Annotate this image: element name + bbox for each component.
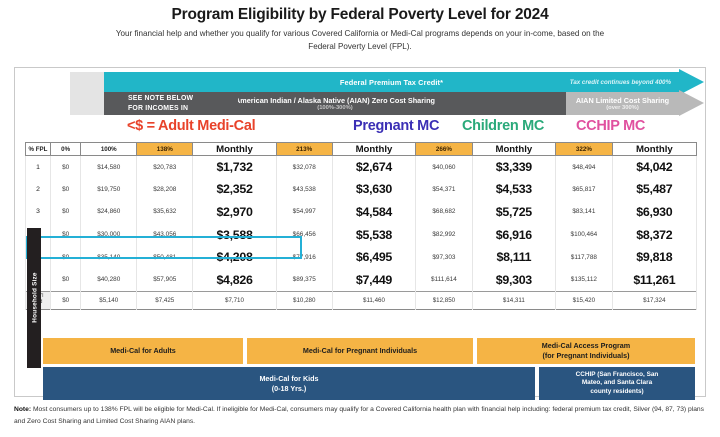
cell-addl-c213: $10,280 [276,291,332,309]
footnote-text: Most consumers up to 138% FPL will be el… [14,406,704,425]
banner-region: Federal Premium Tax Credit* Tax credit c… [15,68,705,118]
column-header-266: 266% [416,143,472,156]
cell-213: $77,916 [276,246,332,269]
cell-138: $57,905 [137,268,193,291]
table-header-row: % FPL0%100%138%Monthly213%Monthly266%Mon… [26,143,697,156]
column-header-100: 100% [81,143,137,156]
cell-322: $83,141 [556,201,613,224]
program-title-cchip: CCHIP MC [576,118,645,134]
cell-monthly: $3,588 [193,223,276,246]
legend-cchip-line3: county residents) [590,388,643,397]
cell-addl-c138: $7,425 [137,291,193,309]
legend-access-line2: (for Pregnant Individuals) [542,351,629,361]
table-row[interactable]: 1$0$14,580$20,783$1,732$32,078$2,674$40,… [26,156,697,179]
legend-medi-cal-access: Medi-Cal Access Program (for Pregnant In… [477,338,695,364]
column-header-monthly: Monthly [472,143,555,156]
cell-0: $0 [51,268,81,291]
cell-322: $65,817 [556,178,613,201]
cell-monthly: $9,818 [612,246,696,269]
footnote-label: Note: [14,406,31,413]
cell-monthly: $2,674 [332,156,415,179]
cell-addl-c0: $0 [51,291,81,309]
banner-left-spacer [70,72,104,115]
see-note-line2: FOR INCOMES IN [128,104,238,113]
cell-monthly: $4,042 [612,156,696,179]
cell-monthly: $2,352 [193,178,276,201]
cell-monthly: $5,487 [612,178,696,201]
cell-100: $24,860 [81,201,137,224]
table-row[interactable]: 5$0$35,140$50,481$4,208$77,916$6,495$97,… [26,246,697,269]
eligibility-card: Federal Premium Tax Credit* Tax credit c… [14,67,706,397]
cell-monthly: $3,630 [332,178,415,201]
cell-213: $43,538 [276,178,332,201]
cell-monthly: $2,970 [193,201,276,224]
gray-arrow-icon [679,90,704,116]
column-header-0: 0% [51,143,81,156]
cell-monthly: $6,916 [472,223,555,246]
cell-100: $14,580 [81,156,137,179]
column-header-monthly: Monthly [193,143,276,156]
program-title-children: Children MC [462,118,544,134]
tax-credit-note: Tax credit continues beyond 400% [570,79,671,86]
column-header-monthly: Monthly [612,143,696,156]
additional-person-row: add'ladd$0$5,140$7,425$7,710$10,280$11,4… [26,291,697,309]
cell-fpl: 3 [26,201,51,224]
cell-fpl: 2 [26,178,51,201]
legend-medi-cal-pregnant: Medi-Cal for Pregnant Individuals [247,338,473,364]
cell-monthly: $4,584 [332,201,415,224]
cell-fpl: 1 [26,156,51,179]
cell-monthly: $7,449 [332,268,415,291]
see-note-line1: SEE NOTE BELOW [128,94,238,103]
cell-addl-m266: $14,311 [472,291,555,309]
cell-0: $0 [51,223,81,246]
household-size-text: Household Size [32,228,39,368]
cell-138: $50,481 [137,246,193,269]
cell-0: $0 [51,156,81,179]
cell-213: $89,375 [276,268,332,291]
cell-100: $19,750 [81,178,137,201]
footer-legend: Medi-Cal for Adults Medi-Cal for Pregnan… [43,338,695,400]
cell-monthly: $5,538 [332,223,415,246]
cell-266: $40,060 [416,156,472,179]
cell-monthly: $5,725 [472,201,555,224]
cell-213: $54,997 [276,201,332,224]
cell-0: $0 [51,201,81,224]
cell-322: $117,788 [556,246,613,269]
table-row[interactable]: 4$0$30,000$43,056$3,588$66,456$5,538$82,… [26,223,697,246]
page-subtitle: Your financial help and whether you qual… [0,24,720,53]
cell-monthly: $4,208 [193,246,276,269]
program-title-adult: <$ = Adult Medi-Cal [127,118,255,134]
table-row[interactable]: 3$0$24,860$35,632$2,970$54,997$4,584$68,… [26,201,697,224]
aian-limited-cost-sharing: AIAN Limited Cost Sharing (over 300%) [566,92,679,115]
table-row[interactable]: 6$0$40,280$57,905$4,826$89,375$7,449$111… [26,268,697,291]
cell-266: $82,992 [416,223,472,246]
legend-kids-line2: (0-18 Yrs.) [272,384,307,394]
household-size-axis-label: Household Size [27,228,41,368]
column-header-fpl: % FPL [26,143,51,156]
table-row[interactable]: 2$0$19,750$28,208$2,352$43,538$3,630$54,… [26,178,697,201]
cell-213: $66,456 [276,223,332,246]
eligibility-table-wrap: % FPL0%100%138%Monthly213%Monthly266%Mon… [25,142,695,310]
legend-medi-cal-kids: Medi-Cal for Kids (0-18 Yrs.) [43,367,535,400]
see-note-block: SEE NOTE BELOW FOR INCOMES IN [104,92,238,115]
table-body: 1$0$14,580$20,783$1,732$32,078$2,674$40,… [26,156,697,310]
column-header-138: 138% [137,143,193,156]
teal-left-block [104,72,238,92]
cell-addl-c100: $5,140 [81,291,137,309]
cell-266: $111,614 [416,268,472,291]
cell-100: $30,000 [81,223,137,246]
legend-kids-line1: Medi-Cal for Kids [259,374,318,384]
cell-addl-m138: $7,710 [193,291,276,309]
cell-138: $43,056 [137,223,193,246]
cell-monthly: $11,261 [612,268,696,291]
cell-138: $28,208 [137,178,193,201]
cell-266: $68,682 [416,201,472,224]
cell-addl-c322: $15,420 [556,291,613,309]
legend-cchip: CCHIP (San Francisco, San Mateo, and San… [539,367,695,400]
program-title-pregnant: Pregnant MC [353,118,439,134]
column-header-monthly: Monthly [332,143,415,156]
cell-addl-m213: $11,460 [332,291,415,309]
cell-addl-m322: $17,324 [612,291,696,309]
footnote: Note: Most consumers up to 138% FPL will… [14,404,706,427]
legend-cchip-line2: Mateo, and Santa Clara [582,379,652,388]
eligibility-table: % FPL0%100%138%Monthly213%Monthly266%Mon… [25,142,697,310]
cell-0: $0 [51,246,81,269]
cell-266: $54,371 [416,178,472,201]
column-header-322: 322% [556,143,613,156]
cell-monthly: $4,826 [193,268,276,291]
cell-138: $20,783 [137,156,193,179]
cell-0: $0 [51,178,81,201]
legend-cchip-line1: CCHIP (San Francisco, San [576,371,659,380]
footer-row-bottom: Medi-Cal for Kids (0-18 Yrs.) CCHIP (San… [43,367,695,400]
cell-monthly: $8,111 [472,246,555,269]
cell-addl-c266: $12,850 [416,291,472,309]
cell-monthly: $6,495 [332,246,415,269]
column-header-213: 213% [276,143,332,156]
cell-322: $135,112 [556,268,613,291]
cell-monthly: $6,930 [612,201,696,224]
cell-100: $35,140 [81,246,137,269]
cell-monthly: $8,372 [612,223,696,246]
cell-monthly: $4,533 [472,178,555,201]
legend-medi-cal-adults: Medi-Cal for Adults [43,338,243,364]
legend-access-line1: Medi-Cal Access Program [542,341,630,351]
program-titles-row: <$ = Adult Medi-Cal Pregnant MC Children… [15,118,705,140]
cell-100: $40,280 [81,268,137,291]
cell-266: $97,303 [416,246,472,269]
table-head: % FPL0%100%138%Monthly213%Monthly266%Mon… [26,143,697,156]
aian-limited-label: AIAN Limited Cost Sharing [566,96,679,105]
footer-row-top: Medi-Cal for Adults Medi-Cal for Pregnan… [43,338,695,364]
cell-monthly: $3,339 [472,156,555,179]
aian-limited-range: (over 300%) [566,105,679,111]
cell-213: $32,078 [276,156,332,179]
cell-322: $100,464 [556,223,613,246]
cell-138: $35,632 [137,201,193,224]
cell-monthly: $1,732 [193,156,276,179]
page-title: Program Eligibility by Federal Poverty L… [0,0,720,24]
cell-monthly: $9,303 [472,268,555,291]
infographic-page: Program Eligibility by Federal Poverty L… [0,0,720,437]
cell-322: $48,494 [556,156,613,179]
